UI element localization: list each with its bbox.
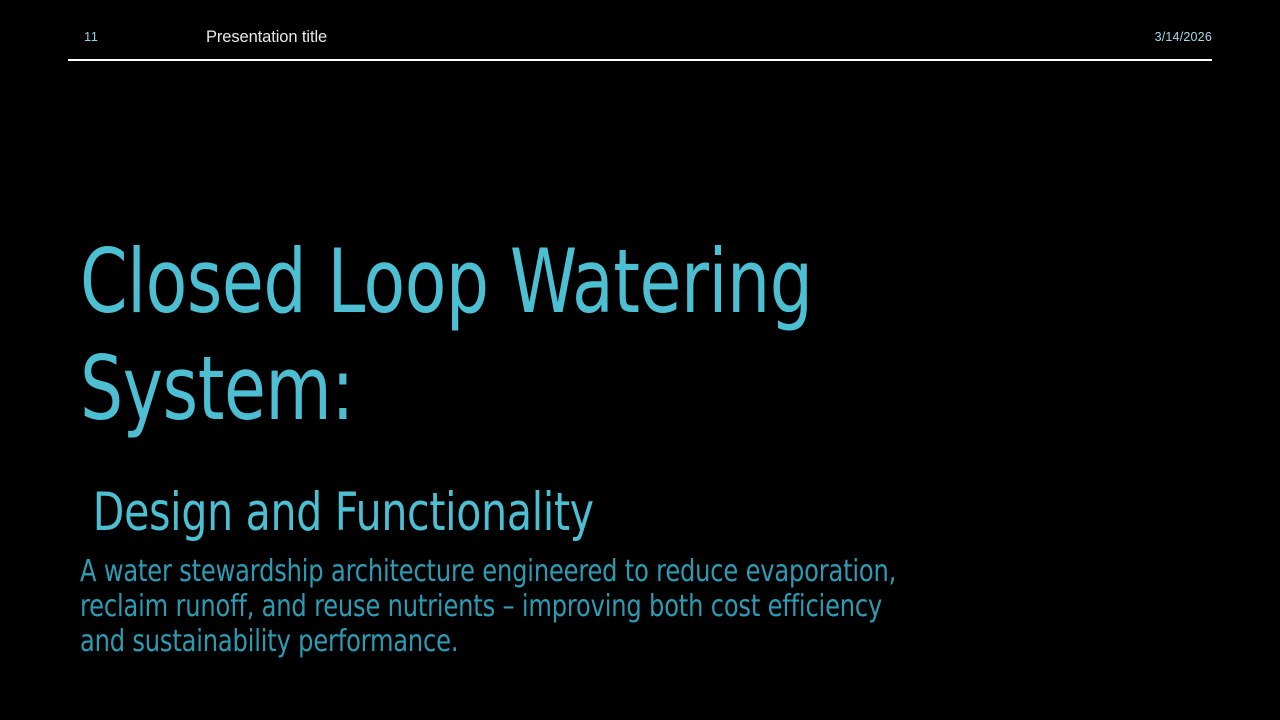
slide-body-text: A water stewardship architecture enginee… — [80, 555, 898, 659]
slide-subtitle: Design and Functionality — [80, 483, 854, 544]
slide-body-paragraph: A water stewardship architecture enginee… — [80, 555, 898, 659]
slide-content: Closed Loop Watering System: Design and … — [0, 0, 1280, 720]
slide-title: Closed Loop Watering System: — [80, 228, 854, 443]
presentation-slide: 11 Presentation title 3/14/2026 Closed L… — [0, 0, 1280, 720]
